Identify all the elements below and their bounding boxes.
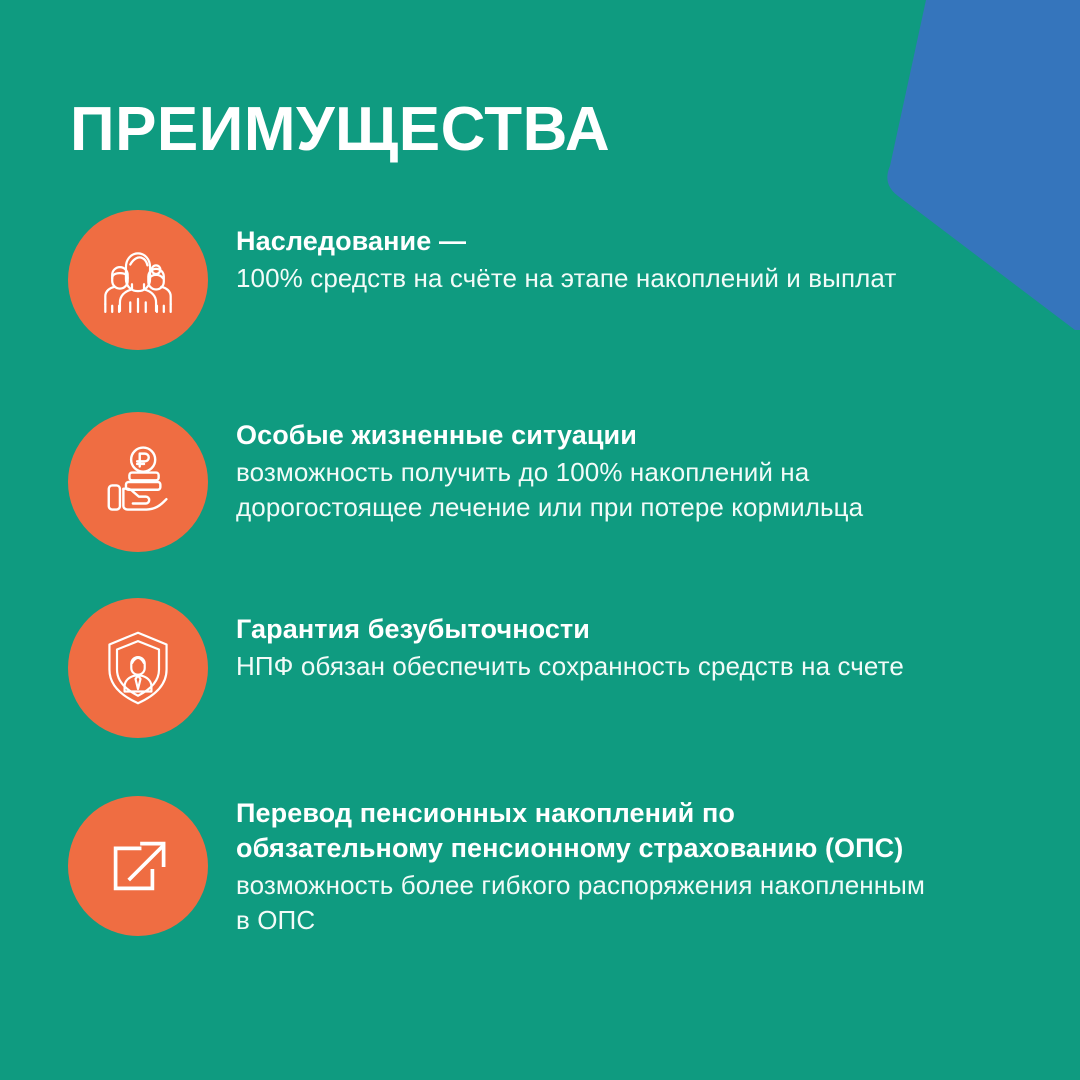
benefit-text-block: Перевод пенсионных накоплений по обязате…: [236, 796, 936, 938]
benefit-body: 100% средств на счёте на этапе накоплени…: [236, 261, 936, 296]
benefit-body: возможность получить до 100% накоплений …: [236, 455, 936, 525]
benefit-heading: Наследование —: [236, 224, 936, 259]
benefit-item-inheritance: Наследование — 100% средств на счёте на …: [0, 210, 1080, 350]
export-arrow-box-icon: [68, 796, 208, 936]
benefit-body: НПФ обязан обеспечить сохранность средст…: [236, 649, 936, 684]
benefit-heading: Особые жизненные ситуации: [236, 418, 936, 453]
benefit-item-transfer: Перевод пенсионных накоплений по обязате…: [0, 796, 1080, 938]
shield-person-icon: [68, 598, 208, 738]
hand-holding-coins-ruble-icon: [68, 412, 208, 552]
benefit-text-block: Наследование — 100% средств на счёте на …: [236, 210, 936, 296]
benefit-item-life-events: Особые жизненные ситуации возможность по…: [0, 412, 1080, 552]
benefit-heading: Перевод пенсионных накоплений по обязате…: [236, 796, 936, 866]
benefit-body: возможность более гибкого распоряжения н…: [236, 868, 936, 938]
family-group-icon: [68, 210, 208, 350]
benefit-text-block: Особые жизненные ситуации возможность по…: [236, 412, 936, 525]
poster-canvas: ПРЕИМУЩЕСТВА: [0, 0, 1080, 1080]
benefit-item-guarantee: Гарантия безубыточности НПФ обязан обесп…: [0, 598, 1080, 738]
page-title: ПРЕИМУЩЕСТВА: [70, 97, 610, 162]
benefit-text-block: Гарантия безубыточности НПФ обязан обесп…: [236, 598, 936, 684]
benefits-list: Наследование — 100% средств на счёте на …: [0, 200, 1080, 938]
benefit-heading: Гарантия безубыточности: [236, 612, 936, 647]
